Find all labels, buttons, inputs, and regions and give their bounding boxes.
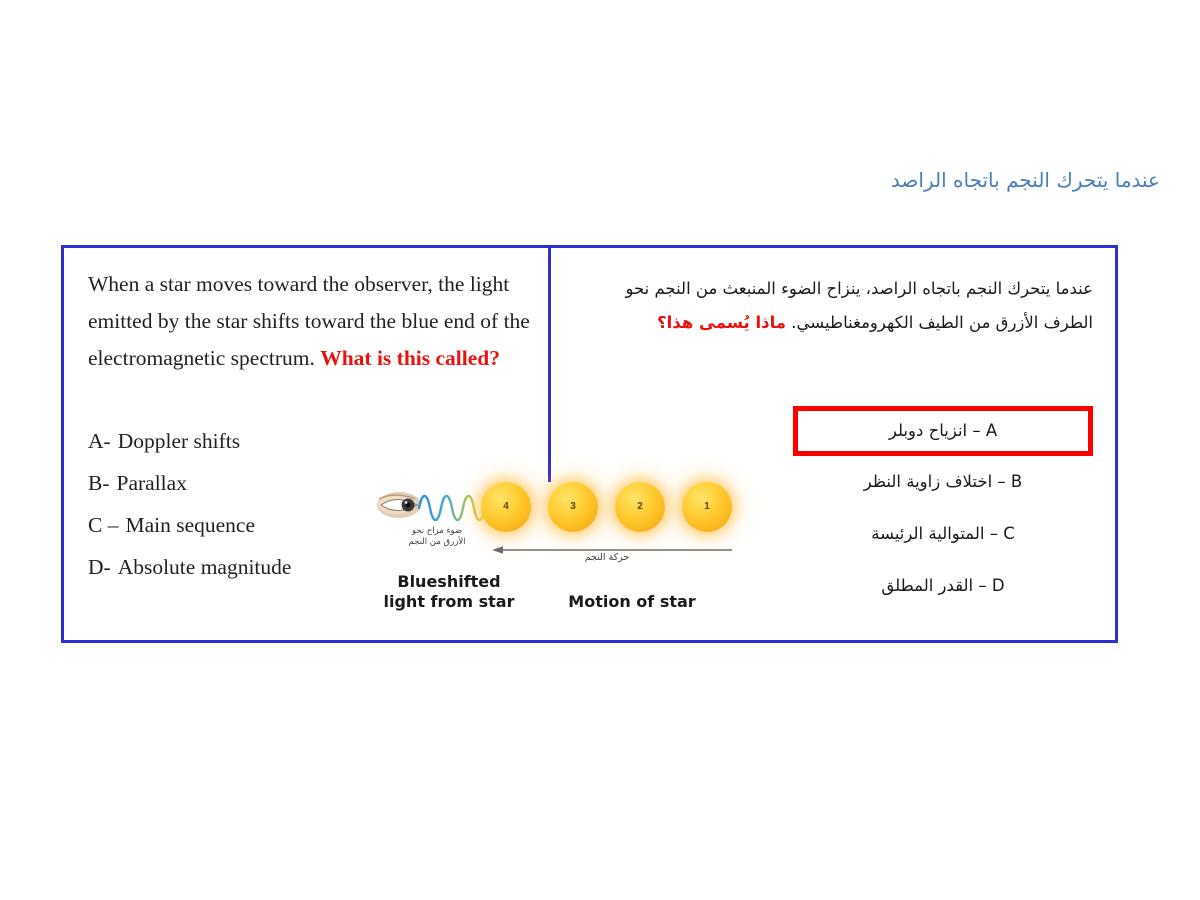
caption-blueshift-line-2: light from star — [371, 592, 527, 612]
english-option-a[interactable]: A-Doppler shifts — [88, 420, 418, 462]
english-column: When a star moves toward the observer, t… — [88, 266, 534, 377]
caption-motion-of-star: Motion of star — [537, 592, 727, 612]
arabic-column: عندما يتحرك النجم باتجاه الراصد، ينزاح ا… — [573, 272, 1093, 340]
motion-arrow-caption-arabic: حركة النجم — [527, 552, 687, 563]
star-3: 3 — [548, 482, 598, 532]
caption-blueshift-line-1: Blueshifted — [371, 572, 527, 592]
arabic-option-a[interactable]: A – انزياح دوبلر — [793, 406, 1093, 456]
english-option-b-key: B- — [88, 471, 110, 495]
arabic-question-emphasis: ماذا يُسمى هذا؟ — [657, 313, 786, 332]
english-option-c-label: Main sequence — [125, 513, 255, 537]
wave-caption-arabic: ضوء مزاح نحو الأزرق من النجم — [387, 526, 487, 548]
english-option-d-label: Absolute magnitude — [118, 555, 292, 579]
arabic-option-d[interactable]: D – القدر المطلق — [793, 560, 1093, 612]
wave-caption-line-1: ضوء مزاح نحو — [387, 526, 487, 537]
star-sequence: 4 3 2 1 — [481, 482, 736, 538]
english-option-c-key: C – — [88, 513, 118, 537]
star-1: 1 — [682, 482, 732, 532]
arabic-option-c[interactable]: C – المتوالية الرئيسة — [793, 508, 1093, 560]
arabic-options-list: A – انزياح دوبلر B – اختلاف زاوية النظر … — [793, 406, 1093, 612]
arabic-question-paragraph: عندما يتحرك النجم باتجاه الراصد، ينزاح ا… — [573, 272, 1093, 340]
panel-divider — [548, 248, 551, 482]
english-question-emphasis: What is this called? — [320, 346, 500, 370]
star-2: 2 — [615, 482, 665, 532]
english-question-paragraph: When a star moves toward the observer, t… — [88, 266, 534, 377]
english-option-b[interactable]: B-Parallax — [88, 462, 418, 504]
english-option-b-label: Parallax — [117, 471, 187, 495]
slide-heading: عندما يتحرك النجم باتجاه الراصد — [460, 168, 1160, 192]
doppler-diagram: 4 3 2 1 ضوء مزاح نحو الأزرق من النجم حرك… — [377, 480, 737, 632]
motion-arrow-icon — [492, 542, 732, 552]
english-option-a-label: Doppler shifts — [118, 429, 240, 453]
english-options-list: A-Doppler shifts B-Parallax C –Main sequ… — [88, 420, 418, 588]
question-panel: When a star moves toward the observer, t… — [61, 245, 1118, 643]
caption-blueshifted-light: Blueshifted light from star — [371, 572, 527, 611]
english-option-d[interactable]: D-Absolute magnitude — [88, 546, 418, 588]
arabic-option-b[interactable]: B – اختلاف زاوية النظر — [793, 456, 1093, 508]
wave-caption-line-2: الأزرق من النجم — [387, 537, 487, 548]
english-option-c[interactable]: C –Main sequence — [88, 504, 418, 546]
english-option-d-key: D- — [88, 555, 111, 579]
eye-icon — [377, 490, 423, 520]
star-4: 4 — [481, 482, 531, 532]
light-wave-icon — [418, 490, 486, 526]
english-option-a-key: A- — [88, 429, 111, 453]
